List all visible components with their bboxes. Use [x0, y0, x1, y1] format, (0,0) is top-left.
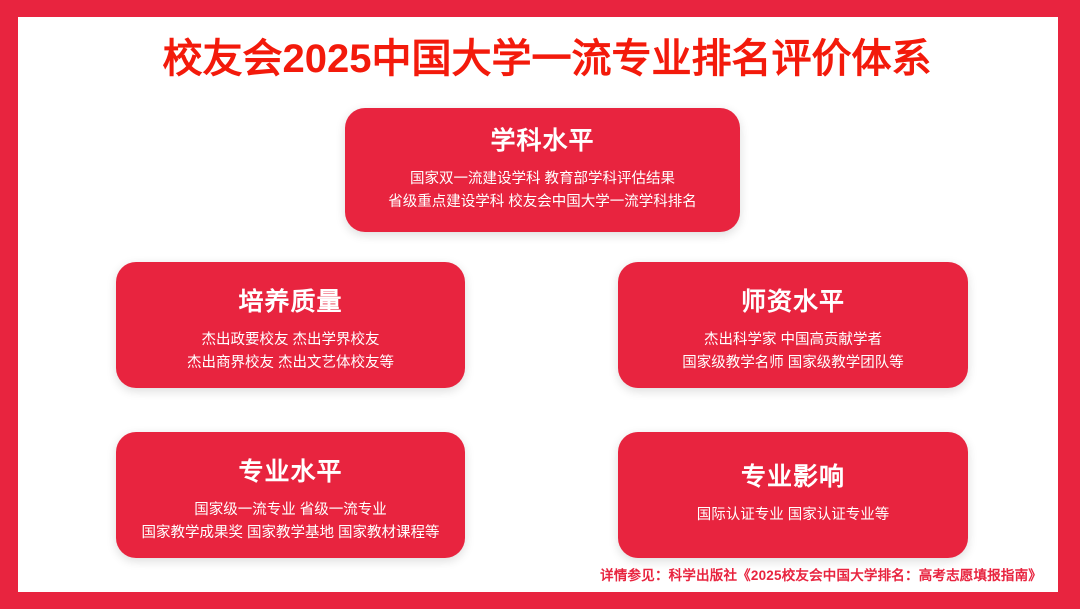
- card-major-level: 专业水平 国家级一流专业 省级一流专业 国家教学成果奖 国家教学基地 国家教材课…: [116, 432, 465, 558]
- card-major-impact: 专业影响 国际认证专业 国家认证专业等: [618, 432, 968, 558]
- card-major-level-lines: 国家级一流专业 省级一流专业 国家教学成果奖 国家教学基地 国家教材课程等: [116, 499, 465, 546]
- card-faculty-level-line-1: 杰出科学家 中国高贡献学者: [618, 329, 968, 352]
- card-faculty-level: 师资水平 杰出科学家 中国高贡献学者 国家级教学名师 国家级教学团队等: [618, 262, 968, 388]
- card-discipline-title: 学科水平: [345, 129, 740, 154]
- card-discipline-lines: 国家双一流建设学科 教育部学科评估结果 省级重点建设学科 校友会中国大学一流学科…: [345, 168, 740, 215]
- card-discipline-line-2: 省级重点建设学科 校友会中国大学一流学科排名: [345, 191, 740, 214]
- card-discipline: 学科水平 国家双一流建设学科 教育部学科评估结果 省级重点建设学科 校友会中国大…: [345, 108, 740, 232]
- card-training-quality-line-2: 杰出商界校友 杰出文艺体校友等: [116, 352, 465, 375]
- card-major-impact-lines: 国际认证专业 国家认证专业等: [618, 504, 968, 527]
- poster-red-frame: 校友会2025中国大学一流专业排名评价体系 学科水平 国家双一流建设学科 教育部…: [0, 0, 1080, 609]
- card-major-level-title: 专业水平: [116, 460, 465, 485]
- source-footnote: 详情参见：科学出版社《2025校友会中国大学排名：高考志愿填报指南》: [600, 564, 1042, 584]
- poster-canvas: 校友会2025中国大学一流专业排名评价体系 学科水平 国家双一流建设学科 教育部…: [18, 17, 1058, 592]
- card-training-quality-line-1: 杰出政要校友 杰出学界校友: [116, 329, 465, 352]
- card-faculty-level-lines: 杰出科学家 中国高贡献学者 国家级教学名师 国家级教学团队等: [618, 329, 968, 376]
- card-major-impact-line-1: 国际认证专业 国家认证专业等: [618, 504, 968, 527]
- card-faculty-level-title: 师资水平: [618, 290, 968, 315]
- card-training-quality-title: 培养质量: [116, 290, 465, 315]
- card-training-quality: 培养质量 杰出政要校友 杰出学界校友 杰出商界校友 杰出文艺体校友等: [116, 262, 465, 388]
- card-discipline-line-1: 国家双一流建设学科 教育部学科评估结果: [345, 168, 740, 191]
- page-title: 校友会2025中国大学一流专业排名评价体系: [18, 39, 1058, 79]
- card-faculty-level-line-2: 国家级教学名师 国家级教学团队等: [618, 352, 968, 375]
- card-training-quality-lines: 杰出政要校友 杰出学界校友 杰出商界校友 杰出文艺体校友等: [116, 329, 465, 376]
- card-major-level-line-2: 国家教学成果奖 国家教学基地 国家教材课程等: [116, 522, 465, 545]
- card-major-impact-title: 专业影响: [618, 465, 968, 490]
- card-major-level-line-1: 国家级一流专业 省级一流专业: [116, 499, 465, 522]
